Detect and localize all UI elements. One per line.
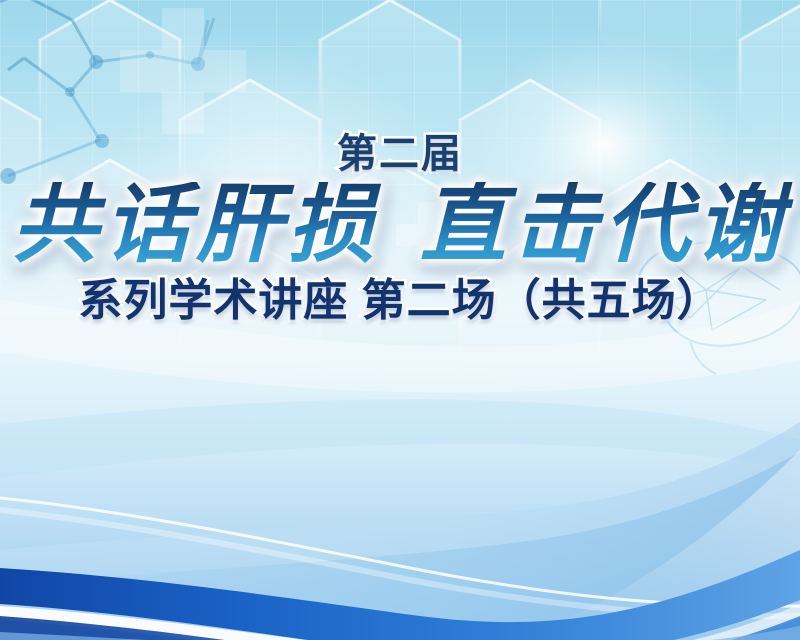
wave-ribbons [0,400,800,640]
main-title-left: 共话肝损 [12,174,380,275]
banner-kicker: 第二届 [0,134,800,174]
conference-banner: 第二届 共话肝损直击代谢 系列学术讲座 第二场（共五场） [0,0,800,640]
main-title-right: 直击代谢 [420,174,788,275]
banner-main-title: 共话肝损直击代谢 [0,182,800,268]
banner-subtitle: 系列学术讲座 第二场（共五场） [0,279,800,323]
